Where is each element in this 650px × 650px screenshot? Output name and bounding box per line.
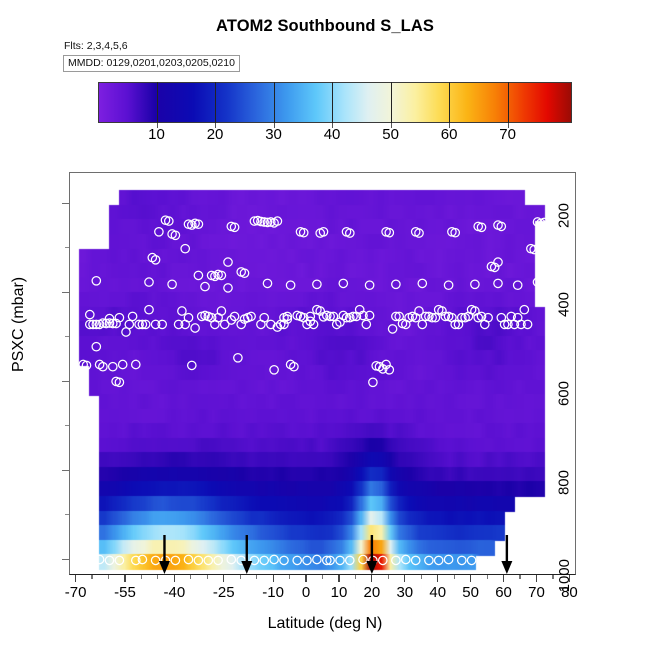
colorbar-tick xyxy=(274,82,275,123)
y-axis-tick xyxy=(62,203,69,204)
data-point-marker xyxy=(514,281,522,289)
data-point-marker xyxy=(201,282,209,290)
data-point-marker xyxy=(369,378,377,386)
data-point-markers xyxy=(70,173,576,575)
colorbar-tick-label: 60 xyxy=(441,126,458,143)
data-point-marker xyxy=(520,306,528,314)
data-point-marker xyxy=(362,320,370,328)
y-axis-tick xyxy=(62,470,69,471)
data-point-marker xyxy=(392,280,400,288)
data-point-marker xyxy=(188,361,196,369)
data-point-marker xyxy=(145,278,153,286)
colorbar-gradient-fill xyxy=(99,83,571,122)
y-axis-minor-tick xyxy=(65,514,69,515)
data-point-marker xyxy=(224,284,232,292)
data-point-marker xyxy=(263,279,271,287)
data-point-marker xyxy=(234,354,242,362)
data-point-marker xyxy=(425,556,433,564)
data-point-marker xyxy=(494,279,502,287)
data-point-marker xyxy=(105,556,113,564)
data-point-marker xyxy=(336,556,344,564)
data-point-marker xyxy=(379,556,387,564)
y-axis-minor-tick xyxy=(65,336,69,337)
data-point-marker xyxy=(145,306,153,314)
data-point-marker xyxy=(250,556,258,564)
data-point-marker xyxy=(444,281,452,289)
data-point-marker xyxy=(194,271,202,279)
colorbar-tick xyxy=(332,82,333,123)
colorbar-tick xyxy=(391,82,392,123)
data-point-marker xyxy=(171,556,179,564)
data-point-marker xyxy=(178,307,186,315)
data-point-marker xyxy=(346,556,354,564)
data-point-marker xyxy=(467,556,475,564)
data-point-marker xyxy=(95,555,103,563)
colorbar-tick xyxy=(215,82,216,123)
y-axis-minor-tick xyxy=(65,425,69,426)
colorbar-tick-label: 20 xyxy=(207,126,224,143)
data-point-marker xyxy=(359,555,367,563)
data-point-marker xyxy=(260,314,268,322)
y-axis-tick xyxy=(62,559,69,560)
plot-area: 2004006008001000 -70-55-40-25-1001020304… xyxy=(69,172,576,575)
data-point-marker xyxy=(115,556,123,564)
data-point-marker xyxy=(109,363,117,371)
mmdd-annotation-box: MMDD: 0129,0201,0203,0205,0210 xyxy=(63,55,240,72)
data-point-marker xyxy=(444,555,452,563)
data-point-marker xyxy=(286,281,294,289)
page-title: ATOM2 Southbound S_LAS xyxy=(0,17,650,36)
data-point-marker xyxy=(533,278,541,286)
data-point-marker xyxy=(418,279,426,287)
colorbar-tick-label: 10 xyxy=(148,126,165,143)
data-point-marker xyxy=(458,556,466,564)
data-point-marker xyxy=(412,556,420,564)
data-point-marker xyxy=(191,324,199,332)
data-point-marker xyxy=(125,320,133,328)
data-point-marker xyxy=(227,555,235,563)
data-point-marker xyxy=(280,556,288,564)
colorbar-tick-label: 50 xyxy=(382,126,399,143)
data-point-marker xyxy=(168,280,176,288)
data-point-marker xyxy=(418,320,426,328)
data-point-marker xyxy=(392,556,400,564)
data-point-marker xyxy=(119,360,127,368)
y-axis-tick-label: 400 xyxy=(556,292,573,317)
data-point-marker xyxy=(194,556,202,564)
data-point-marker xyxy=(82,554,90,562)
data-point-marker xyxy=(128,312,136,320)
data-point-marker xyxy=(481,320,489,328)
data-point-marker xyxy=(270,366,278,374)
data-point-marker xyxy=(471,280,479,288)
colorbar-gradient xyxy=(98,82,572,123)
y-axis-minor-tick xyxy=(65,247,69,248)
latitude-arrows xyxy=(69,575,576,601)
data-point-marker xyxy=(270,555,278,563)
colorbar-tick-label: 40 xyxy=(324,126,341,143)
y-axis-tick xyxy=(62,381,69,382)
data-point-marker xyxy=(132,360,140,368)
data-point-marker xyxy=(293,556,301,564)
data-point-marker xyxy=(435,556,443,564)
data-point-marker xyxy=(86,310,94,318)
y-axis-tick-label: 800 xyxy=(556,470,573,495)
x-axis-title: Latitude (deg N) xyxy=(0,615,650,633)
colorbar: 10203040506070 xyxy=(98,82,572,123)
data-point-marker xyxy=(303,556,311,564)
colorbar-tick xyxy=(508,82,509,123)
data-point-marker xyxy=(313,280,321,288)
colorbar-tick-label: 70 xyxy=(499,126,516,143)
plot-frame xyxy=(69,172,576,575)
y-axis-tick-label: 200 xyxy=(556,203,573,228)
data-point-marker xyxy=(260,556,268,564)
data-point-marker xyxy=(221,320,229,328)
y-axis-title: PSXC (mbar) xyxy=(10,277,28,372)
data-point-marker xyxy=(155,228,163,236)
data-point-marker xyxy=(402,555,410,563)
data-point-marker xyxy=(92,343,100,351)
data-point-marker xyxy=(217,307,225,315)
colorbar-tick-label: 30 xyxy=(265,126,282,143)
data-point-marker xyxy=(184,555,192,563)
data-point-marker xyxy=(339,279,347,287)
y-axis-tick xyxy=(62,292,69,293)
data-point-marker xyxy=(204,556,212,564)
data-point-marker xyxy=(388,325,396,333)
data-point-marker xyxy=(151,556,159,564)
data-point-marker xyxy=(365,281,373,289)
colorbar-tick xyxy=(157,82,158,123)
data-point-marker xyxy=(224,258,232,266)
colorbar-tick xyxy=(449,82,450,123)
flights-annotation: Flts: 2,3,4,5,6 xyxy=(64,40,128,52)
data-point-marker xyxy=(92,277,100,285)
data-point-marker xyxy=(181,245,189,253)
y-axis-tick-label: 600 xyxy=(556,381,573,406)
data-point-marker xyxy=(214,556,222,564)
data-point-marker xyxy=(313,555,321,563)
